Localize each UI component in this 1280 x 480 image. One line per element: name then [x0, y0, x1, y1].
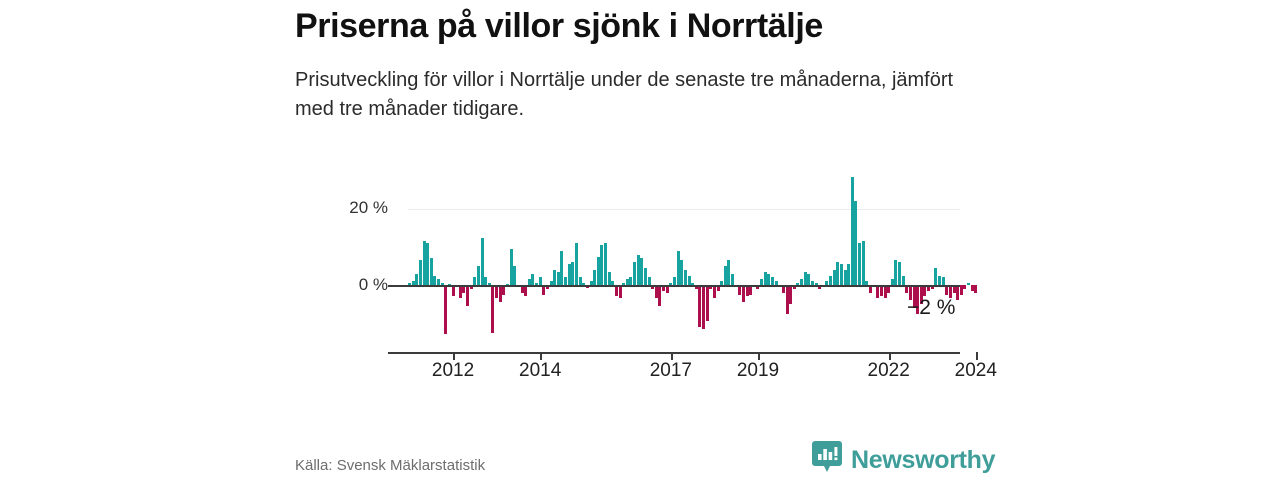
- bar: [807, 274, 810, 285]
- bar: [644, 268, 647, 285]
- bar: [499, 285, 502, 302]
- bar: [680, 260, 683, 285]
- bar: [568, 264, 571, 285]
- bar: [967, 283, 970, 285]
- x-axis-tick: [889, 352, 891, 360]
- bar-series: [408, 160, 960, 350]
- bar: [898, 262, 901, 285]
- x-axis-tick-label: 2017: [650, 360, 692, 382]
- bar: [731, 274, 734, 285]
- bar: [862, 241, 865, 285]
- bar: [419, 260, 422, 285]
- bar: [677, 251, 680, 285]
- y-axis-label-20: 20 %: [349, 198, 388, 218]
- bar: [637, 255, 640, 285]
- bar: [484, 277, 487, 285]
- bar: [934, 268, 937, 285]
- x-axis-tick-label: 2024: [955, 360, 997, 382]
- bar: [600, 245, 603, 285]
- bar: [767, 274, 770, 285]
- bar: [764, 272, 767, 285]
- bar: [433, 276, 436, 286]
- x-axis-tick: [758, 352, 760, 360]
- x-axis-tick-label: 2012: [432, 360, 474, 382]
- bar: [706, 285, 709, 321]
- x-axis-tick: [453, 352, 455, 360]
- bar: [593, 270, 596, 285]
- bar: [640, 258, 643, 285]
- bar: [702, 285, 705, 329]
- bar: [539, 277, 542, 285]
- bar: [804, 272, 807, 285]
- bar: [531, 274, 534, 285]
- bar: [854, 201, 857, 285]
- bar: [836, 262, 839, 285]
- bar: [974, 285, 977, 293]
- bar: [894, 260, 897, 285]
- x-axis-tick: [540, 352, 542, 360]
- bar: [579, 277, 582, 285]
- bar: [956, 285, 959, 300]
- x-axis-tick-label: 2019: [737, 360, 779, 382]
- bar: [604, 243, 607, 285]
- bar: [553, 270, 556, 285]
- bar: [629, 277, 632, 285]
- bar: [571, 262, 574, 285]
- bar: [960, 285, 963, 295]
- x-axis-tick-label: 2014: [519, 360, 561, 382]
- bar: [633, 262, 636, 285]
- bar: [430, 258, 433, 285]
- bar: [491, 285, 494, 333]
- bar: [902, 276, 905, 286]
- bar: [658, 285, 661, 306]
- bar: [789, 285, 792, 304]
- bar: [833, 270, 836, 285]
- bar: [564, 277, 567, 285]
- x-axis-line: [388, 352, 960, 354]
- value-annotation: −2 %: [907, 296, 955, 320]
- bar: [648, 277, 651, 285]
- bar: [742, 285, 745, 302]
- bar: [847, 264, 850, 285]
- bar: [786, 285, 789, 314]
- x-axis-tick: [976, 352, 978, 360]
- bar: [513, 266, 516, 285]
- y-axis-labels: 20 % 0 %: [270, 0, 388, 480]
- newsworthy-logo[interactable]: Newsworthy: [812, 441, 995, 480]
- bar: [727, 260, 730, 285]
- bar: [481, 238, 484, 286]
- bar: [415, 274, 418, 285]
- bar: [688, 276, 691, 286]
- bar: [608, 272, 611, 285]
- bar: [771, 277, 774, 285]
- bar: [971, 285, 974, 291]
- bar: [858, 243, 861, 285]
- speech-bubble-bar-chart-icon: [812, 441, 842, 480]
- bar: [444, 285, 447, 334]
- bar: [473, 277, 476, 285]
- bar: [724, 266, 727, 285]
- x-axis-tick: [671, 352, 673, 360]
- zero-axis-line: [388, 285, 960, 287]
- bar: [942, 277, 945, 285]
- bar: [963, 285, 966, 289]
- bar: [557, 272, 560, 285]
- bar: [575, 243, 578, 285]
- bar: [673, 277, 676, 285]
- bar: [477, 266, 480, 285]
- bar: [851, 177, 854, 285]
- bar: [829, 276, 832, 286]
- bar: [597, 257, 600, 286]
- bar: [840, 264, 843, 285]
- plot-area: [408, 160, 960, 350]
- bar: [938, 276, 941, 286]
- x-axis-tick-label: 2022: [868, 360, 910, 382]
- bar: [698, 285, 701, 327]
- source-note: Källa: Svensk Mäklarstatistik: [295, 457, 485, 474]
- chart-page: Priserna på villor sjönk i Norrtälje Pri…: [0, 0, 1280, 480]
- bar: [510, 249, 513, 285]
- y-axis-label-0: 0 %: [359, 275, 388, 295]
- bar: [844, 270, 847, 285]
- bar: [684, 270, 687, 285]
- bar: [423, 241, 426, 285]
- logo-wordmark: Newsworthy: [851, 448, 995, 473]
- bar: [560, 251, 563, 285]
- bar-chart: 20 % 0 % 201220142017201920222024 −2 %: [0, 0, 1280, 480]
- bar: [426, 243, 429, 285]
- bar: [466, 285, 469, 306]
